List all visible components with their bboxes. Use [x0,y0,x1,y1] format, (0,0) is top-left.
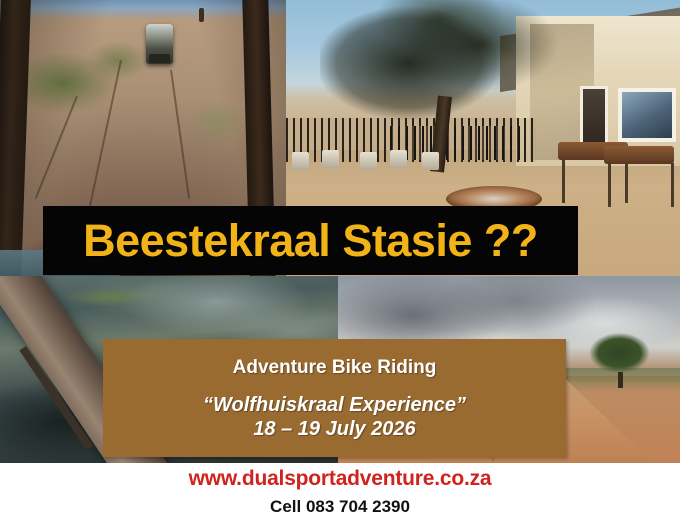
poster-title: Beestekraal Stasie ?? [83,218,538,263]
title-banner: Beestekraal Stasie ?? [43,206,578,275]
poster: Beestekraal Stasie ?? Adventure Bike Rid… [0,0,680,526]
patio-chair [292,152,309,170]
event-info-box: Adventure Bike Riding “Wolfhuiskraal Exp… [103,339,566,457]
rider-figure [199,8,204,22]
quad-bike [146,24,173,64]
patio-chair [322,150,339,168]
event-dates: 18 – 19 July 2026 [253,419,415,440]
acacia-tree-canopy [320,0,580,140]
patio-chair [390,150,407,168]
patio-chair [422,152,439,170]
patio-chair [360,152,377,170]
event-headline: Adventure Bike Riding [233,358,437,377]
event-subtitle: “Wolfhuiskraal Experience” [203,395,466,416]
house-window [618,88,676,142]
reed-bank [48,284,168,310]
roadside-tree [582,328,660,376]
braai-stand [604,146,674,164]
phone-number: Cell 083 704 2390 [270,497,410,517]
website-link[interactable]: www.dualsportadventure.co.za [189,466,492,491]
contact-footer: www.dualsportadventure.co.za Cell 083 70… [0,463,680,526]
